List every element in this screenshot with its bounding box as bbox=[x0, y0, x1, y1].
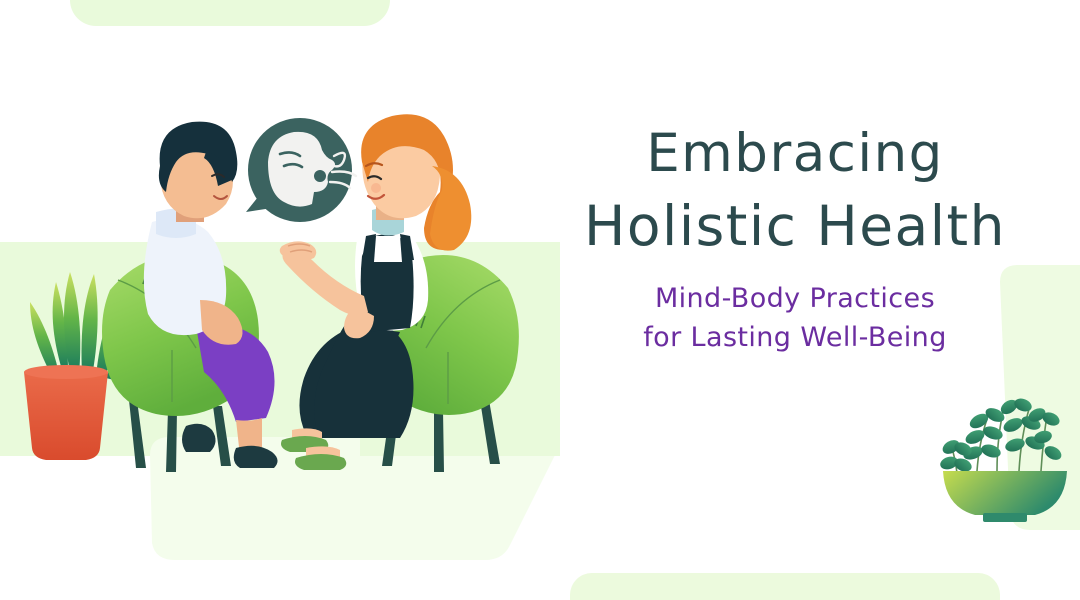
bowl-planter-leafy-plant bbox=[935, 375, 1080, 530]
client-shoe-front bbox=[234, 446, 278, 468]
page-subtitle-line-2: for Lasting Well-Being bbox=[540, 319, 1050, 356]
breathing-exercise-bubble bbox=[246, 118, 356, 222]
practitioner-shirt-white-panel bbox=[374, 236, 402, 262]
page-title-line-1: Embracing bbox=[540, 118, 1050, 190]
planter-base bbox=[983, 513, 1027, 522]
planter-bowl bbox=[943, 471, 1067, 515]
client-shoe-back bbox=[182, 424, 216, 452]
bottom-rounded-bar-shape bbox=[570, 573, 1000, 600]
poster-canvas: Embracing Holistic Health Mind-Body Prac… bbox=[0, 0, 1080, 600]
headline-block: Embracing Holistic Health Mind-Body Prac… bbox=[540, 118, 1050, 356]
aloe-pot bbox=[24, 372, 108, 460]
page-title-line-2: Holistic Health bbox=[540, 190, 1050, 262]
practitioner-cheek bbox=[371, 183, 381, 193]
practitioner-skirt bbox=[314, 320, 413, 438]
page-subtitle-line-1: Mind-Body Practices bbox=[540, 280, 1050, 317]
aloe-pot-rim bbox=[24, 365, 108, 379]
practitioner-shoe-front bbox=[295, 454, 346, 470]
planter-stems-icon bbox=[939, 396, 1064, 474]
therapy-session-illustration bbox=[0, 100, 560, 520]
